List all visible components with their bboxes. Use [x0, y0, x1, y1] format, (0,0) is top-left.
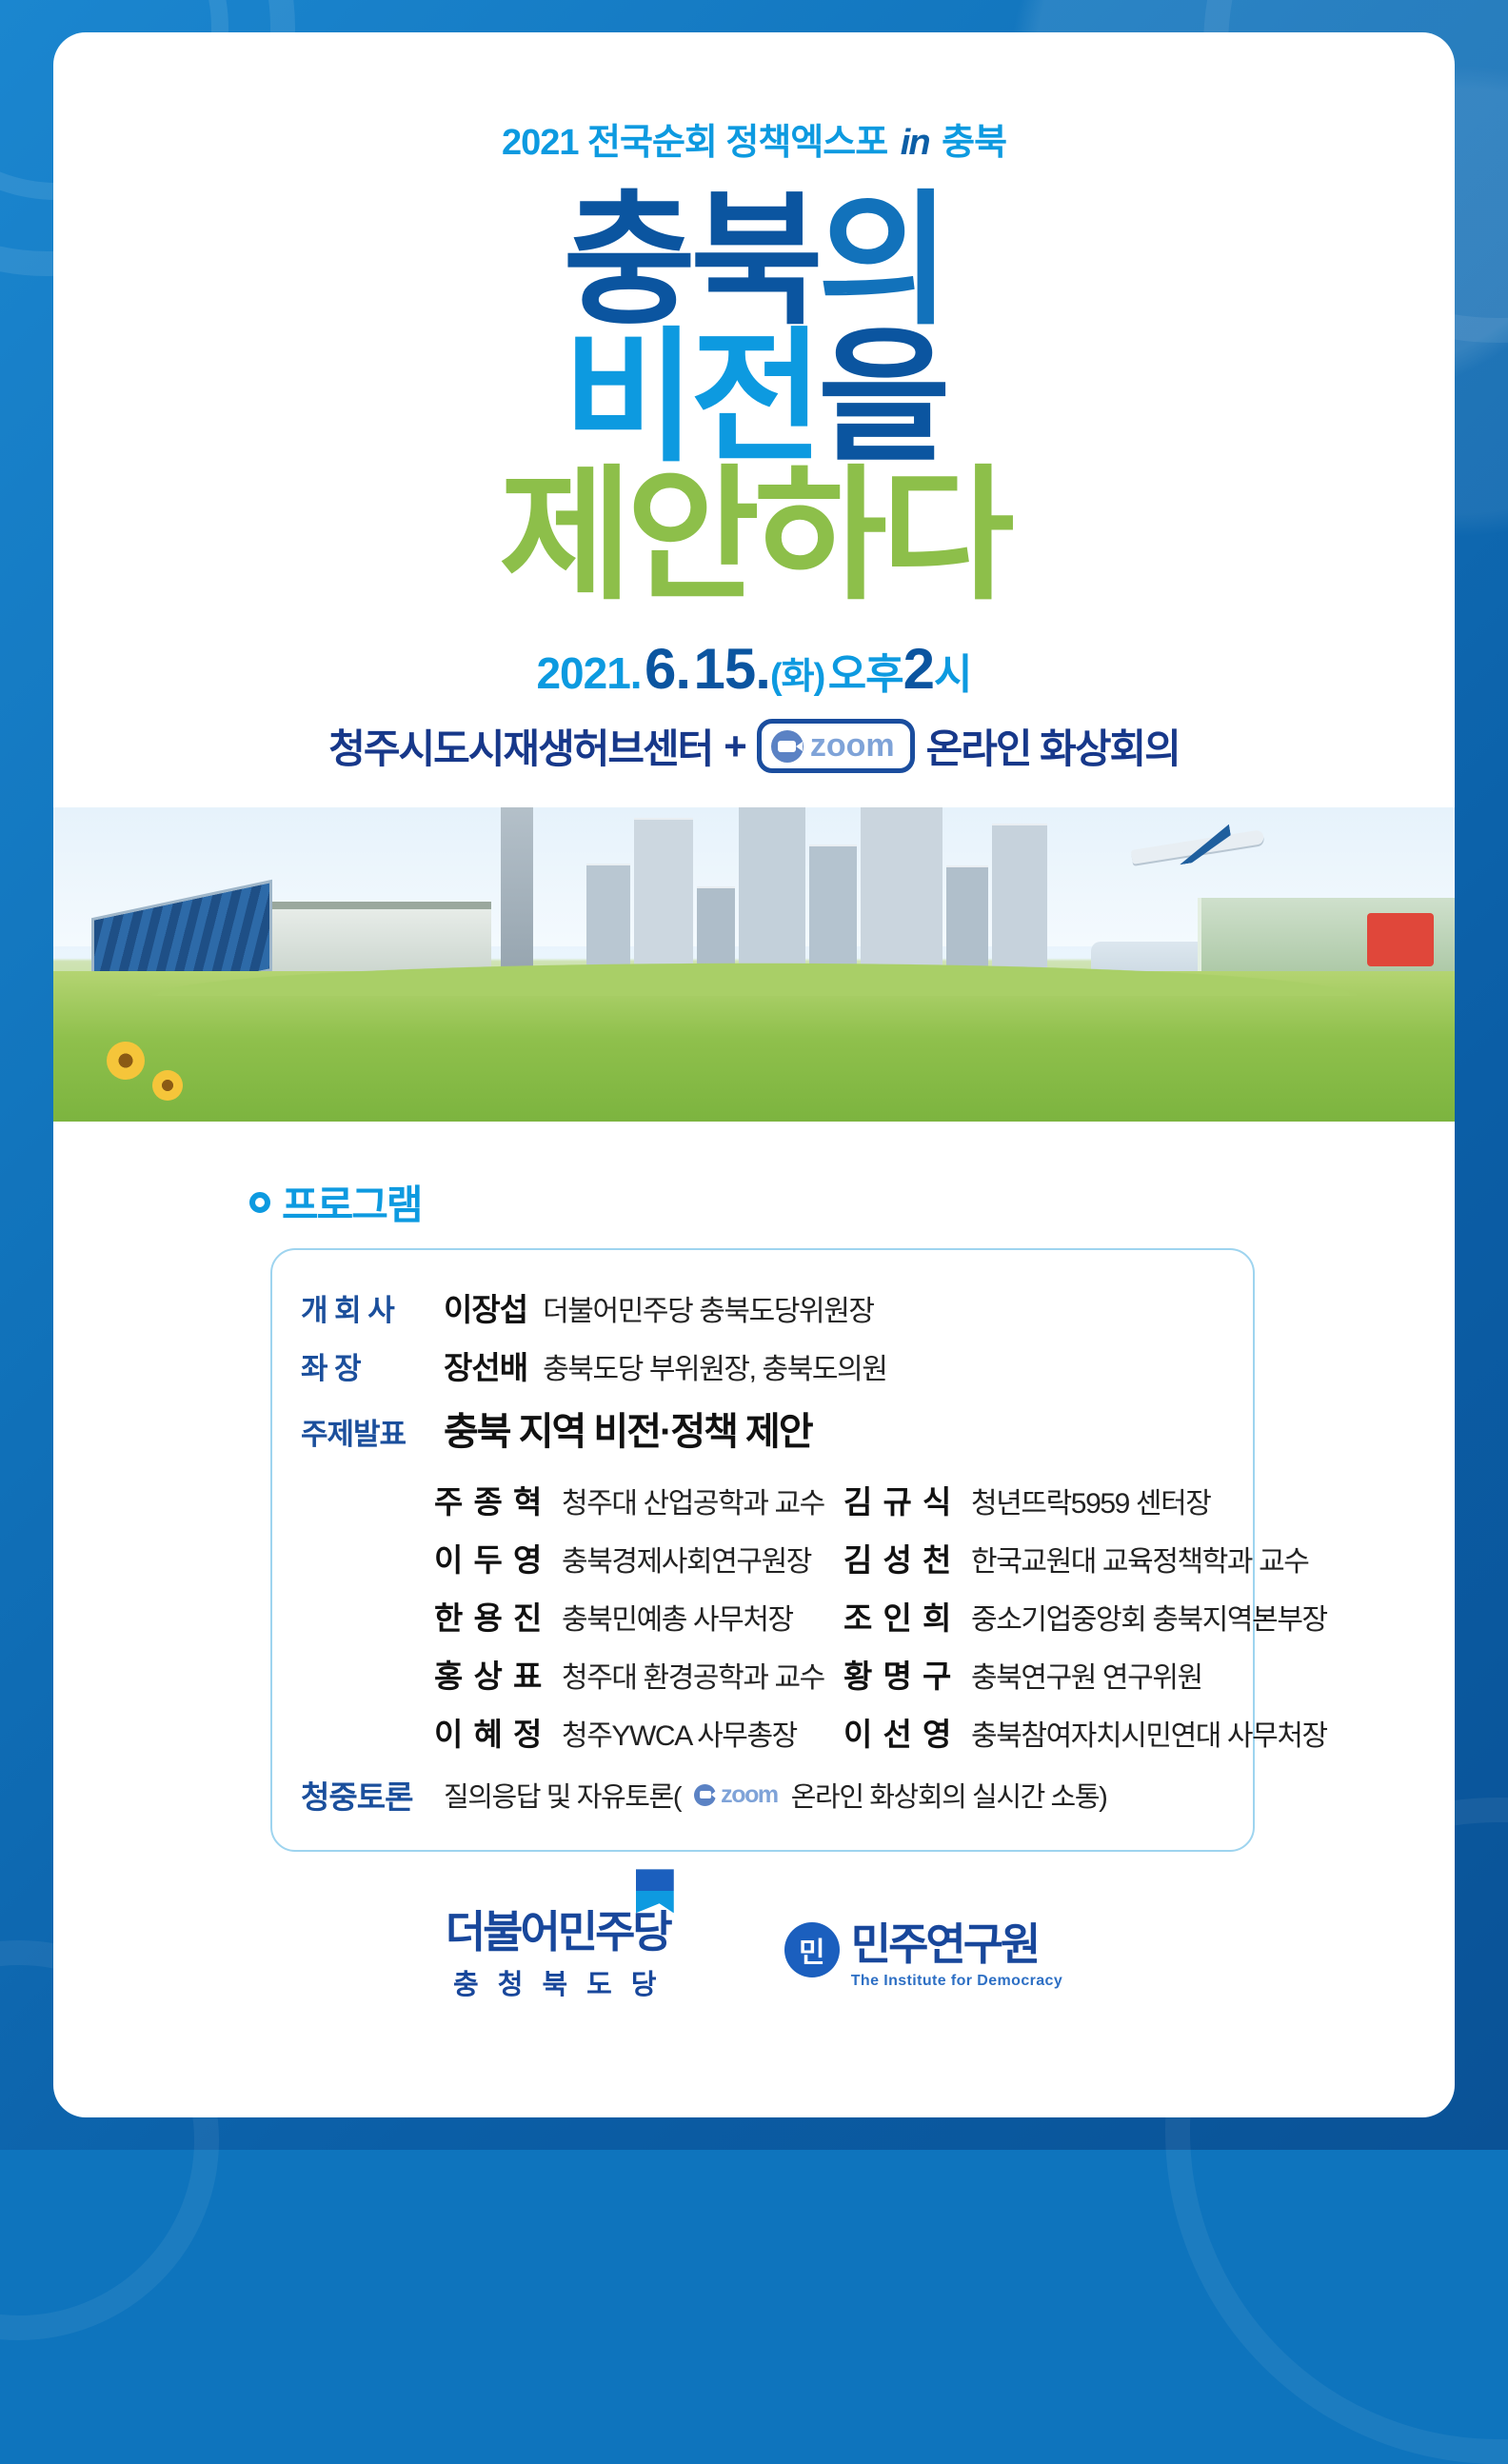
program-section-title: 프로그램 [282, 1173, 422, 1231]
speaker-affiliation: 충북경제사회연구원장 [562, 1538, 811, 1580]
speaker-list: 주 종 혁 청주대 산업공학과 교수 김 규 식 청년뜨락5959 센터장 이 … [434, 1477, 1224, 1755]
event-venue: 청주시도시재생허브센터 + zoom 온라인 화상회의 [53, 717, 1455, 775]
list-item: 김 규 식 청년뜨락5959 센터장 [843, 1477, 1327, 1522]
program-row-discussion: 청중토론 질의응답 및 자유토론( zoom 온라인 화상회의 실시간 소통) [301, 1772, 1224, 1818]
speaker-affiliation: 충북연구원 연구위원 [971, 1654, 1202, 1696]
eyebrow-region-text: 충북 [942, 123, 1006, 163]
list-item: 홍 상 표 청주대 환경공학과 교수 [434, 1651, 843, 1697]
discussion-pre-text: 질의응답 및 자유토론( [444, 1775, 681, 1815]
city-skyline-photo [53, 807, 1455, 1122]
zoom-wordmark: zoom [810, 727, 895, 765]
speaker-name: 김 규 식 [843, 1477, 956, 1522]
date-month: 6. [645, 637, 690, 701]
speaker-name: 이 선 영 [843, 1709, 956, 1755]
list-item: 주 종 혁 청주대 산업공학과 교수 [434, 1477, 843, 1522]
discussion-description: 질의응답 및 자유토론( zoom 온라인 화상회의 실시간 소통) [444, 1775, 1106, 1815]
zoom-wordmark: zoom [721, 1781, 778, 1809]
video-camera-icon [771, 730, 804, 763]
poster-card: 2021 전국순회 정책엑스포 in 충북 충북의 비전을 제안하다 2021.… [53, 32, 1455, 2117]
list-item: 김 성 천 한국교원대 교육정책학과 교수 [843, 1535, 1327, 1580]
institute-mark-icon: 민 [784, 1922, 840, 1977]
list-item: 한 용 진 충북민예총 사무처장 [434, 1593, 843, 1639]
speaker-affiliation: 청년뜨락5959 센터장 [971, 1480, 1210, 1521]
video-camera-icon [694, 1784, 716, 1806]
program-row-desc: 더불어민주당 충북도당위원장 [543, 1287, 874, 1329]
discussion-label: 청중토론 [301, 1772, 444, 1818]
date-day: 15. [694, 637, 770, 701]
airplane-icon [1131, 826, 1264, 864]
institute-name: 민주연구원 [851, 1910, 1062, 1973]
page-title: 충북의 비전을 제안하다 [53, 189, 1455, 607]
speaker-name: 김 성 천 [843, 1535, 956, 1580]
institute-name-english: The Institute for Democracy [851, 1973, 1062, 1990]
eyebrow-in-text: in [897, 123, 933, 163]
program-row-name: 장선배 [444, 1342, 527, 1388]
speaker-affiliation: 충북민예총 사무처장 [562, 1596, 793, 1638]
list-item: 이 두 영 충북경제사회연구원장 [434, 1535, 843, 1580]
speaker-affiliation: 청주대 산업공학과 교수 [562, 1480, 824, 1521]
program-panel: 개 회 사 이장섭 더불어민주당 충북도당위원장 좌 장 장선배 충북도당 부위… [270, 1248, 1255, 1852]
speaker-name: 한 용 진 [434, 1593, 546, 1639]
event-datetime: 2021. 6. 15.(화) 오후2시 [53, 636, 1455, 702]
title-line-3-part-b: 하다 [754, 455, 1009, 617]
program-topic-label: 주제발표 [301, 1410, 444, 1453]
title-line-1: 충북의 [53, 189, 1455, 332]
venue-online: 온라인 화상회의 [926, 717, 1180, 775]
program-row-topic: 주제발표 충북 지역 비전·정책 제안 [301, 1401, 1224, 1456]
program-section-header: 프로그램 [249, 1173, 1455, 1231]
speaker-name: 이 두 영 [434, 1535, 546, 1580]
date-weekday: (화) [770, 657, 824, 697]
poster-background: 2021 전국순회 정책엑스포 in 충북 충북의 비전을 제안하다 2021.… [0, 0, 1508, 2150]
list-item: 이 혜 정 청주YWCA 사무총장 [434, 1709, 843, 1755]
zoom-logo: zoom [757, 719, 915, 773]
title-line-3-part-a: 제안 [499, 455, 754, 617]
speaker-name: 황 명 구 [843, 1651, 956, 1697]
eyebrow-pre-text: 2021 전국순회 정책엑스포 [502, 123, 887, 163]
time-prefix: 오후 [828, 651, 903, 698]
list-item: 이 선 영 충북참여자치시민연대 사무처장 [843, 1709, 1327, 1755]
grass-field [53, 971, 1455, 1122]
program-row-name: 이장섭 [444, 1284, 527, 1330]
venue-plus: + [724, 724, 745, 769]
speaker-name: 조 인 희 [843, 1593, 956, 1639]
event-series-eyebrow: 2021 전국순회 정책엑스포 in 충북 [53, 112, 1455, 165]
speaker-name: 이 혜 정 [434, 1709, 546, 1755]
venue-place: 청주시도시재생허브센터 [328, 717, 712, 775]
party-branch: 충 청 북 도 당 [446, 1962, 670, 2002]
program-row-desc: 충북도당 부위원장, 충북도의원 [543, 1345, 886, 1387]
program-row-chair: 좌 장 장선배 충북도당 부위원장, 충북도의원 [301, 1342, 1224, 1388]
title-line-2: 비전을 [53, 327, 1455, 469]
ring-bullet-icon [249, 1192, 270, 1213]
speaker-affiliation: 충북참여자치시민연대 사무처장 [971, 1712, 1327, 1754]
discussion-post-text: 온라인 화상회의 실시간 소통) [791, 1775, 1107, 1815]
program-row-opening: 개 회 사 이장섭 더불어민주당 충북도당위원장 [301, 1284, 1224, 1330]
time-unit: 시 [934, 651, 971, 698]
date-year: 2021. [536, 648, 641, 698]
list-item: 황 명 구 충북연구원 연구위원 [843, 1651, 1327, 1697]
footer-logos: 더불어민주당 충 청 북 도 당 민 민주연구원 The Institute f… [53, 1898, 1455, 2002]
speaker-affiliation: 청주대 환경공학과 교수 [562, 1654, 824, 1696]
speaker-affiliation: 청주YWCA 사무총장 [562, 1712, 797, 1754]
zoom-logo-small: zoom [688, 1781, 784, 1809]
program-row-label: 좌 장 [301, 1344, 444, 1387]
speaker-affiliation: 한국교원대 교육정책학과 교수 [971, 1538, 1308, 1580]
speaker-name: 주 종 혁 [434, 1477, 546, 1522]
speaker-name: 홍 상 표 [434, 1651, 546, 1697]
program-row-label: 개 회 사 [301, 1286, 444, 1329]
list-item: 조 인 희 중소기업중앙회 충북지역본부장 [843, 1593, 1327, 1639]
program-topic-title: 충북 지역 비전·정책 제안 [444, 1401, 812, 1456]
institute-logo: 민 민주연구원 The Institute for Democracy [784, 1910, 1062, 1990]
time-number: 2 [903, 637, 934, 701]
speaker-affiliation: 중소기업중앙회 충북지역본부장 [971, 1596, 1327, 1638]
party-logo: 더불어민주당 충 청 북 도 당 [446, 1898, 670, 2002]
title-line-3: 제안하다 [53, 465, 1455, 607]
